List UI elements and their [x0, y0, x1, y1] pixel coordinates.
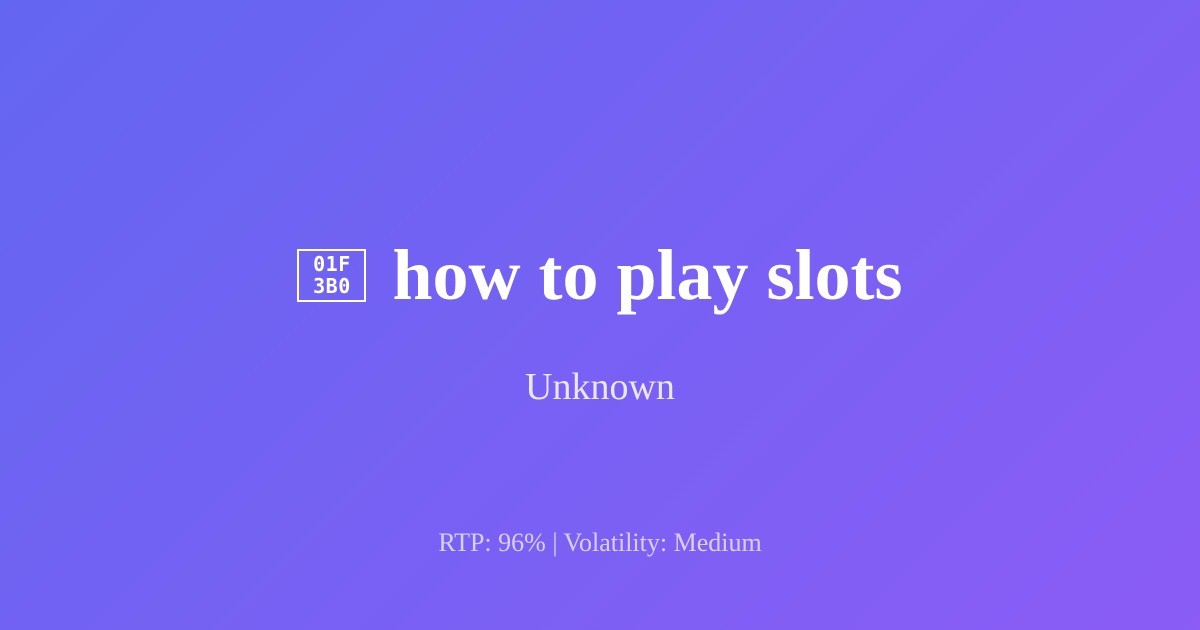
title-row: 01F 3B0 how to play slots — [0, 232, 1200, 318]
game-stats-line: RTP: 96% | Volatility: Medium — [0, 527, 1200, 559]
slot-machine-emoji-icon: 01F 3B0 — [297, 249, 366, 302]
og-preview-card: 01F 3B0 how to play slots Unknown RTP: 9… — [0, 0, 1200, 630]
tofu-codepoint-top: 01F — [313, 253, 351, 275]
tofu-codepoint-bottom: 3B0 — [313, 275, 351, 297]
page-title: how to play slots — [392, 235, 902, 315]
provider-name: Unknown — [0, 362, 1200, 412]
